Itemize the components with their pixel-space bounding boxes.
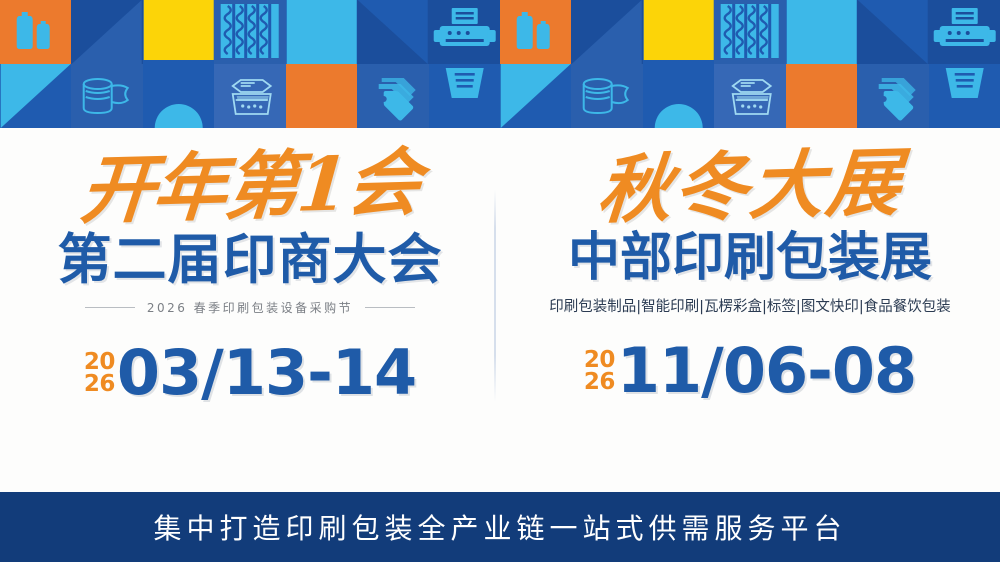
paper-roll-tile xyxy=(71,64,142,128)
right-event-heading: 中部印刷包装展 xyxy=(568,232,932,285)
diagonal-shape xyxy=(500,64,571,128)
left-year: 20 26 xyxy=(84,352,115,396)
pattern-unit xyxy=(500,0,1000,128)
printer-base-tile xyxy=(429,64,500,128)
circle-tile xyxy=(643,64,714,128)
solid-block xyxy=(143,0,214,64)
yellow-block-tile xyxy=(643,0,714,64)
right-date-row: 20 26 11/06-08 xyxy=(584,340,916,402)
pattern-strip xyxy=(0,0,1000,128)
diagonal-shape xyxy=(857,0,928,64)
left-calligraphy-title: 开年第1会 xyxy=(78,146,422,229)
printer-icon xyxy=(429,0,500,64)
left-year-bottom: 26 xyxy=(84,374,115,396)
footer-bar: 集中打造印刷包装全产业链一站式供需服务平台 xyxy=(0,492,1000,562)
solid-block xyxy=(786,64,857,128)
corrugated-board-icon xyxy=(214,0,285,64)
right-calligraphy-title: 秋冬大展 xyxy=(595,146,906,228)
diagonal-tile-2 xyxy=(857,0,928,64)
food-container-icon xyxy=(714,64,785,128)
orange-block-tile xyxy=(786,64,857,128)
bottles-tile xyxy=(500,0,571,64)
left-month-day: 03/13-14 xyxy=(117,342,416,404)
circle-shape xyxy=(643,64,714,128)
solid-block xyxy=(786,0,857,64)
rule-left xyxy=(85,307,135,308)
diagonal-cyan-tile xyxy=(0,64,71,128)
left-event-heading: 第二届印商大会 xyxy=(58,232,443,287)
diagonal-cyan-tile xyxy=(500,64,571,128)
left-subtitle: 2026 春季印刷包装设备采购节 xyxy=(147,299,353,316)
right-event-panel: 秋冬大展 中部印刷包装展 印刷包装制品|智能印刷|瓦楞彩盒|标签|图文快印|食品… xyxy=(500,128,1000,492)
diagonal-shape xyxy=(357,0,428,64)
right-year-bottom: 26 xyxy=(584,372,615,394)
left-subtitle-row: 2026 春季印刷包装设备采购节 xyxy=(85,299,415,316)
solid-block xyxy=(286,0,357,64)
circle-shape xyxy=(143,64,214,128)
left-event-panel: 开年第1会 第二届印商大会 2026 春季印刷包装设备采购节 20 26 03/… xyxy=(0,128,500,492)
printer-icon xyxy=(929,64,1000,128)
corrugated-tile xyxy=(214,0,285,64)
printer-tile xyxy=(929,0,1000,64)
food-container-icon xyxy=(214,64,285,128)
food-box-tile xyxy=(214,64,285,128)
diagonal-shape xyxy=(71,0,142,64)
footer-slogan: 集中打造印刷包装全产业链一站式供需服务平台 xyxy=(153,507,846,547)
diagonal-shape xyxy=(571,0,642,64)
solid-block xyxy=(286,64,357,128)
main-content: 开年第1会 第二届印商大会 2026 春季印刷包装设备采购节 20 26 03/… xyxy=(0,128,1000,492)
corrugated-tile xyxy=(714,0,785,64)
diagonal-tile-1 xyxy=(71,0,142,64)
paper-roll-icon xyxy=(571,64,642,128)
printer-base-tile xyxy=(929,64,1000,128)
rule-right xyxy=(365,307,415,308)
right-month-day: 11/06-08 xyxy=(617,340,916,402)
yellow-block-tile xyxy=(143,0,214,64)
price-tags-icon xyxy=(857,64,928,128)
corrugated-board-icon xyxy=(714,0,785,64)
left-date-row: 20 26 03/13-14 xyxy=(84,342,416,404)
diagonal-shape xyxy=(0,64,71,128)
printer-tile xyxy=(429,0,500,64)
tags-tile xyxy=(357,64,428,128)
diagonal-tile-2 xyxy=(357,0,428,64)
cyan-block-tile xyxy=(286,0,357,64)
orange-block-tile xyxy=(286,64,357,128)
circle-tile xyxy=(143,64,214,128)
bottles-icon xyxy=(500,0,571,64)
right-year: 20 26 xyxy=(584,350,615,394)
bottles-icon xyxy=(0,0,71,64)
price-tags-icon xyxy=(357,64,428,128)
paper-roll-tile xyxy=(571,64,642,128)
solid-block xyxy=(643,0,714,64)
cyan-block-tile xyxy=(786,0,857,64)
pattern-unit xyxy=(0,0,500,128)
printer-icon xyxy=(929,0,1000,64)
diagonal-tile-1 xyxy=(571,0,642,64)
bottles-tile xyxy=(0,0,71,64)
paper-roll-icon xyxy=(71,64,142,128)
tags-tile xyxy=(857,64,928,128)
promo-banner: 开年第1会 第二届印商大会 2026 春季印刷包装设备采购节 20 26 03/… xyxy=(0,0,1000,562)
food-box-tile xyxy=(714,64,785,128)
right-subtitle: 印刷包装制品|智能印刷|瓦楞彩盒|标签|图文快印|食品餐饮包装 xyxy=(549,295,950,316)
printer-icon xyxy=(429,64,500,128)
